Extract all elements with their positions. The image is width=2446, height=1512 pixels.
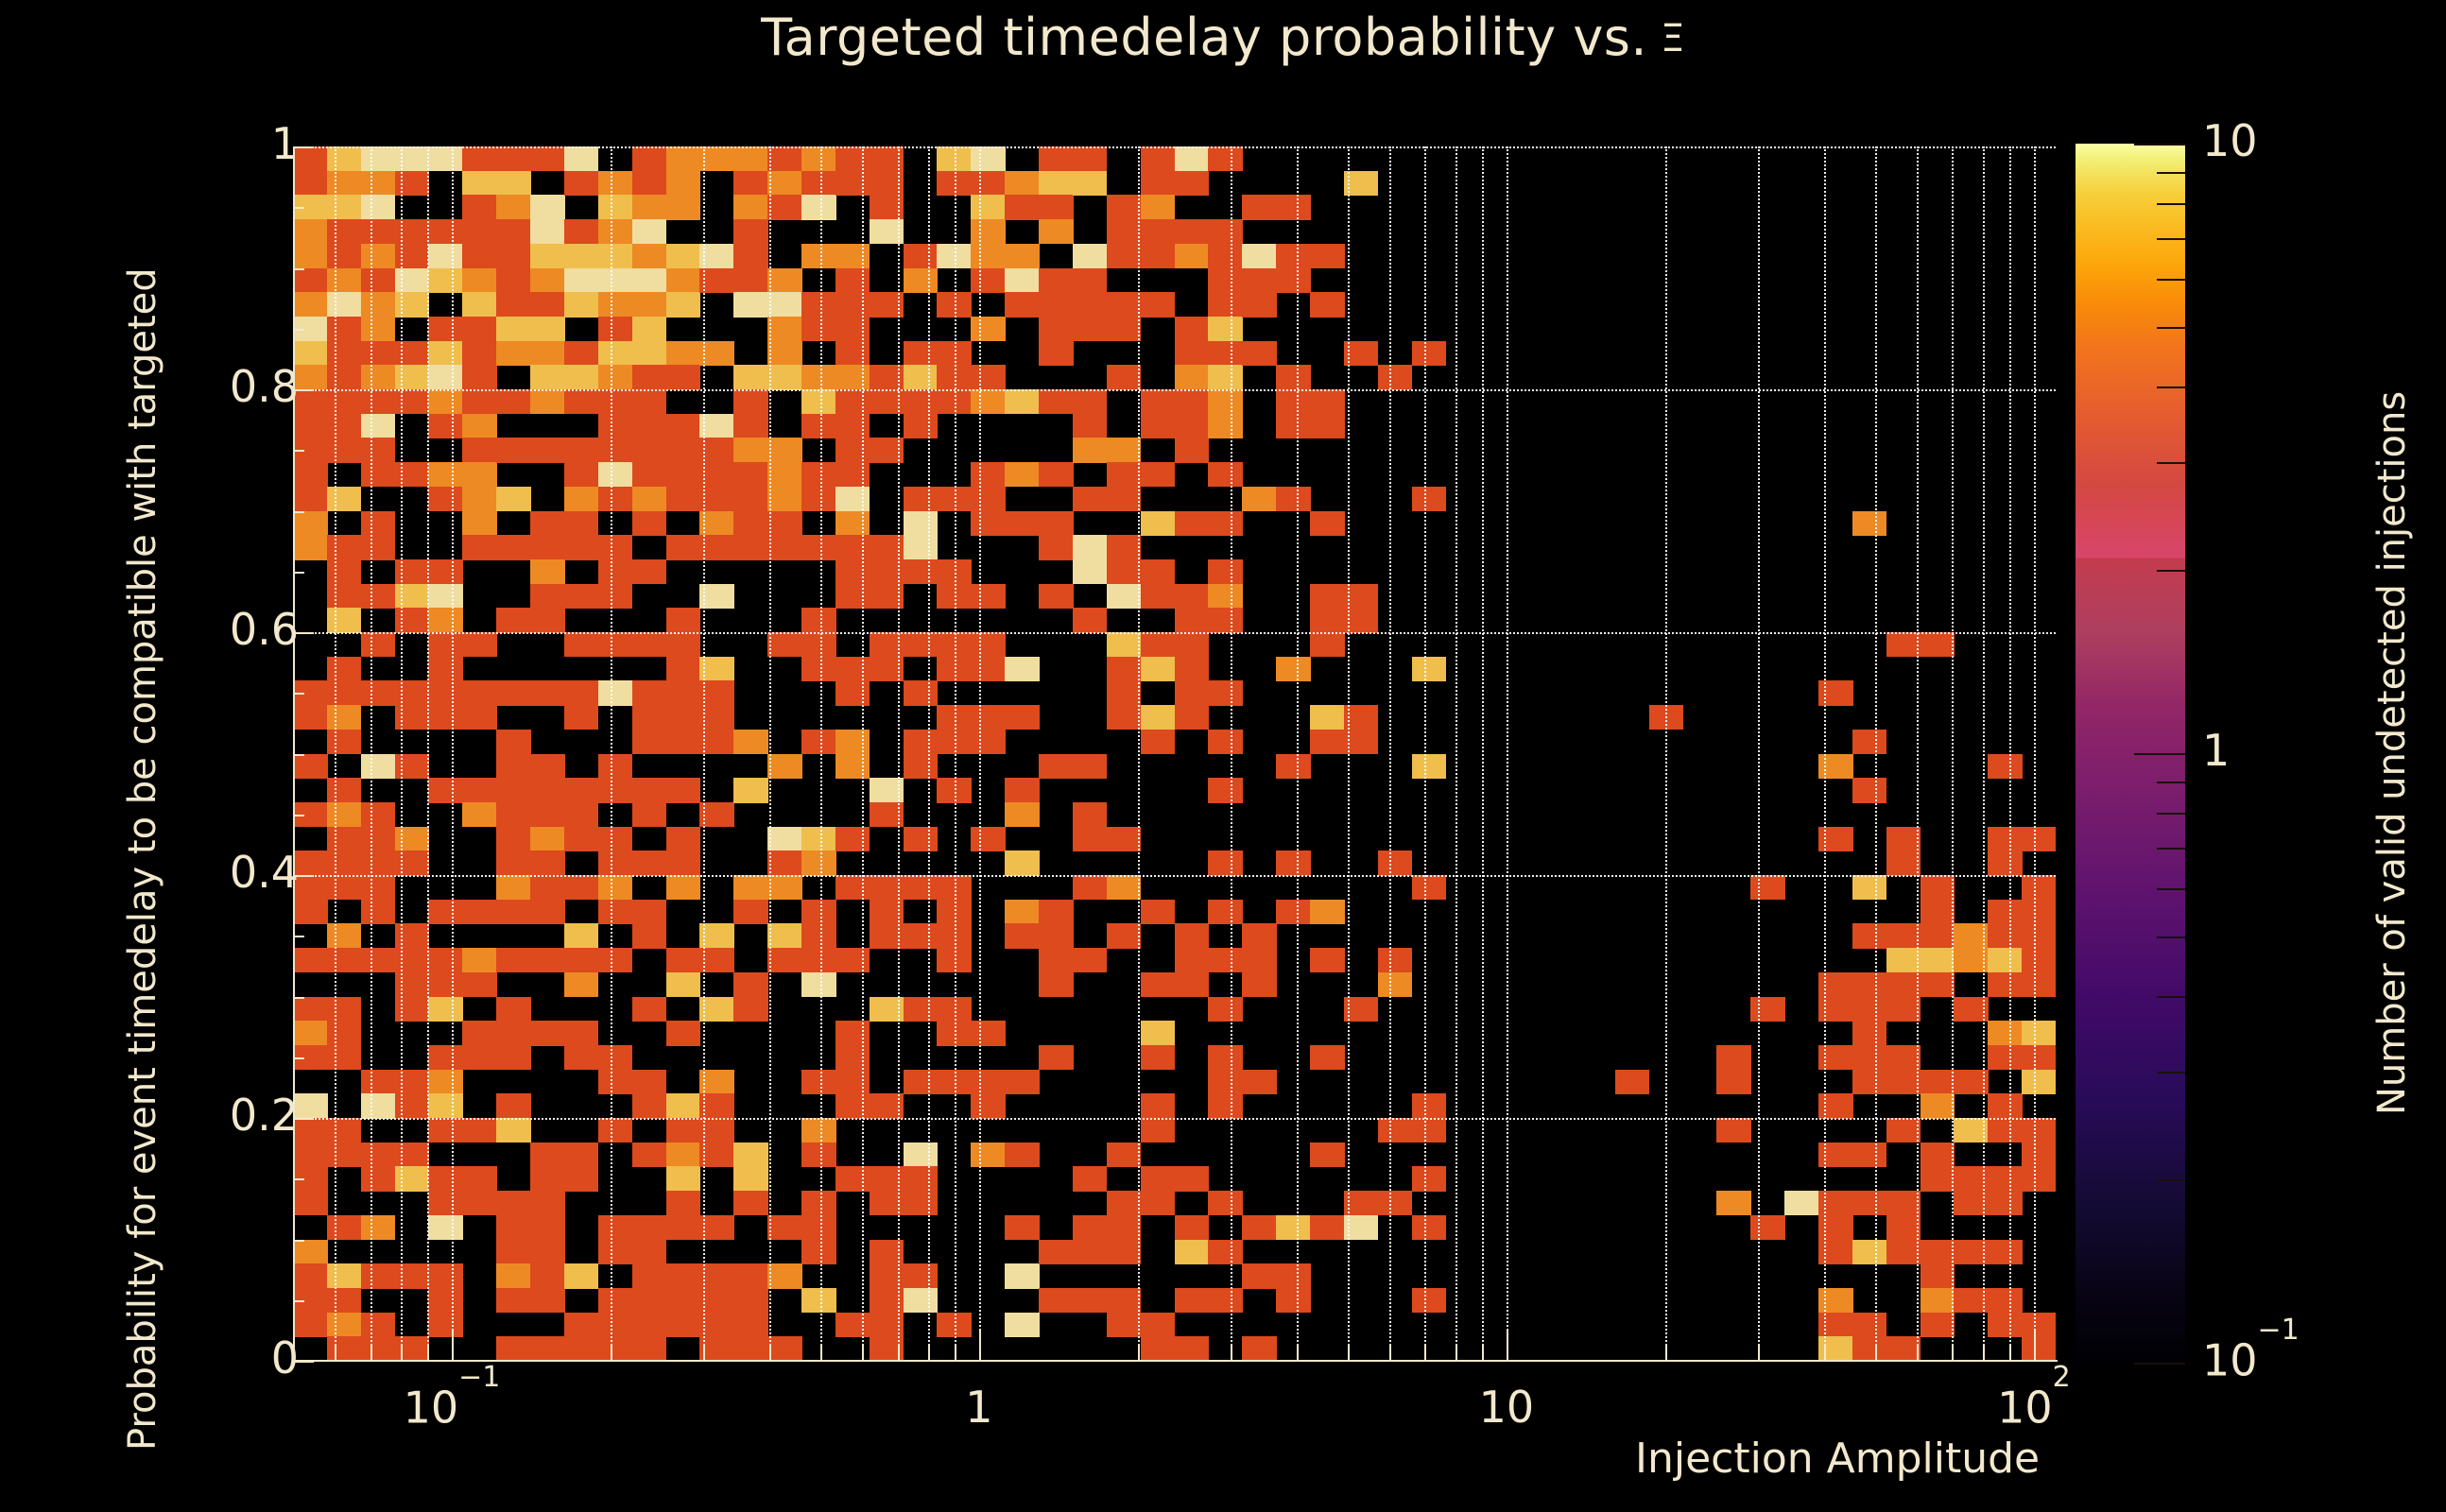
heatmap-cell (2022, 948, 2056, 972)
heatmap-cell (632, 365, 667, 389)
heatmap-cell (1276, 850, 1311, 875)
heatmap-cell (2022, 1336, 2056, 1361)
heatmap-cell (801, 1070, 836, 1094)
y-tick-label: 0.6 (230, 604, 299, 655)
heatmap-cell (904, 875, 939, 900)
heatmap-cell (666, 365, 701, 389)
heatmap-cell (1886, 1240, 1921, 1264)
heatmap-cell (733, 292, 768, 317)
heatmap-cell (598, 948, 633, 972)
heatmap-cell (1208, 680, 1243, 705)
heatmap-cell (1141, 1093, 1176, 1118)
heatmap-cell (1208, 850, 1243, 875)
gridline-vertical (335, 146, 336, 1361)
heatmap-cell (598, 1240, 633, 1264)
heatmap-cell (327, 171, 362, 196)
heatmap-cell (1141, 414, 1176, 438)
heatmap-cell (1005, 171, 1040, 196)
heatmap-cell (361, 317, 396, 341)
heatmap-cell (1208, 900, 1243, 924)
heatmap-cell (1073, 1215, 1108, 1240)
heatmap-cell (496, 1288, 531, 1313)
heatmap-cell (564, 1045, 599, 1070)
gridline-vertical (1824, 146, 1826, 1361)
heatmap-cell (1276, 487, 1311, 511)
heatmap-cell (666, 730, 701, 754)
heatmap-cell (1175, 632, 1210, 657)
heatmap-cell (428, 1118, 463, 1143)
gridline-vertical (1482, 146, 1484, 1361)
heatmap-cell (1107, 487, 1142, 511)
heatmap-cell (1039, 900, 1074, 924)
heatmap-cell (1852, 1070, 1887, 1094)
heatmap-cell (1310, 1215, 1345, 1240)
heatmap-cell (564, 535, 599, 559)
x-axis-minor-tick (1231, 1344, 1232, 1361)
heatmap-cell (666, 1191, 701, 1215)
heatmap-cell (361, 146, 396, 171)
heatmap-cell (1988, 1118, 2023, 1143)
heatmap-cell (530, 778, 565, 802)
heatmap-cell (1852, 1191, 1887, 1215)
heatmap-cell (1175, 584, 1210, 609)
heatmap-cell (1141, 389, 1176, 414)
heatmap-cell (666, 244, 701, 268)
heatmap-cell (1852, 1143, 1887, 1167)
heatmap-cell (327, 1288, 362, 1313)
heatmap-cell (1073, 827, 1108, 851)
heatmap-cell (1005, 900, 1040, 924)
heatmap-cell (564, 389, 599, 414)
heatmap-cell (327, 1263, 362, 1288)
y-axis-minor-tick (293, 754, 304, 756)
heatmap-cell (835, 146, 870, 171)
heatmap-cell (1005, 268, 1040, 293)
gridline-vertical (769, 146, 771, 1361)
heatmap-cell (1141, 244, 1176, 268)
heatmap-cell (1750, 875, 1785, 900)
heatmap-cell (530, 317, 565, 341)
heatmap-cell (462, 972, 497, 997)
heatmap-cell (666, 268, 701, 293)
heatmap-cell (1107, 535, 1142, 559)
heatmap-cell (564, 219, 599, 244)
heatmap-cell (1988, 1021, 2023, 1045)
x-axis-major-tick (1507, 1329, 1508, 1361)
heatmap-cell (327, 1021, 362, 1045)
heatmap-cell (293, 511, 328, 536)
y-axis-minor-tick (293, 572, 304, 574)
heatmap-cell (1175, 365, 1210, 389)
heatmap-cell (1073, 1288, 1108, 1313)
heatmap-cell (904, 1070, 939, 1094)
heatmap-cell (1988, 900, 2023, 924)
heatmap-cell (530, 1263, 565, 1288)
heatmap-cell (564, 827, 599, 851)
heatmap-cell (293, 948, 328, 972)
heatmap-cell (496, 875, 531, 900)
heatmap-cell (1310, 1045, 1345, 1070)
heatmap-cell (530, 1240, 565, 1264)
heatmap-cell (835, 511, 870, 536)
heatmap-cell (1039, 317, 1074, 341)
heatmap-cell (496, 389, 531, 414)
y-axis-minor-tick (293, 936, 304, 937)
heatmap-cell (1988, 850, 2023, 875)
heatmap-cell (462, 365, 497, 389)
gridline-vertical (955, 146, 956, 1361)
gridline-vertical (703, 146, 705, 1361)
heatmap-cell (1310, 414, 1345, 438)
heatmap-cell (666, 1021, 701, 1045)
heatmap-cell (835, 584, 870, 609)
heatmap-cell (904, 1191, 939, 1215)
y-axis-minor-tick (293, 450, 304, 452)
heatmap-cell (971, 657, 1006, 681)
heatmap-cell (530, 146, 565, 171)
heatmap-cell (1039, 1240, 1074, 1264)
heatmap-cell (733, 414, 768, 438)
heatmap-cell (361, 414, 396, 438)
heatmap-cell (835, 244, 870, 268)
heatmap-cell (1852, 1313, 1887, 1337)
heatmap-cell (327, 341, 362, 366)
heatmap-cell (361, 584, 396, 609)
heatmap-cell (564, 632, 599, 657)
heatmap-cell (361, 900, 396, 924)
x-axis-minor-tick (1297, 1344, 1299, 1361)
heatmap-cell (1615, 1070, 1650, 1094)
heatmap-cell (1175, 680, 1210, 705)
heatmap-cell (1107, 1191, 1142, 1215)
heatmap-cell (564, 462, 599, 487)
heatmap-cell (1921, 1263, 1955, 1288)
heatmap-cell (462, 171, 497, 196)
heatmap-cell (904, 414, 939, 438)
heatmap-cell (767, 171, 802, 196)
heatmap-cell (835, 1166, 870, 1191)
y-axis-minor-tick (293, 1240, 304, 1242)
heatmap-cell (293, 487, 328, 511)
heatmap-cell (1175, 244, 1210, 268)
heatmap-cell (598, 292, 633, 317)
gridline-vertical (2034, 146, 2036, 1361)
heatmap-cell (462, 268, 497, 293)
heatmap-cell (428, 487, 463, 511)
gridline-vertical (1507, 146, 1508, 1361)
heatmap-cell (1242, 244, 1277, 268)
heatmap-cell (632, 511, 667, 536)
heatmap-cell (1921, 1143, 1955, 1167)
heatmap-cell (632, 632, 667, 657)
heatmap-cell (293, 900, 328, 924)
heatmap-cell (733, 462, 768, 487)
heatmap-cell (1107, 292, 1142, 317)
heatmap-cell (1005, 511, 1040, 536)
heatmap-cell (1175, 948, 1210, 972)
x-axis-major-tick (2034, 1329, 2036, 1361)
heatmap-cell (327, 657, 362, 681)
heatmap-cell (327, 219, 362, 244)
heatmap-cell (428, 268, 463, 293)
heatmap-cell (428, 462, 463, 487)
heatmap-cell (1175, 608, 1210, 632)
heatmap-cell (530, 1288, 565, 1313)
heatmap-cell (1175, 1336, 1210, 1361)
heatmap-cell (1412, 754, 1447, 779)
heatmap-cell (496, 1240, 531, 1264)
heatmap-cell (835, 948, 870, 972)
heatmap-cell (1276, 900, 1311, 924)
heatmap-cell (1175, 219, 1210, 244)
heatmap-cell (666, 948, 701, 972)
heatmap-cell (1921, 1093, 1955, 1118)
x-axis-minor-tick (769, 1344, 771, 1361)
heatmap-cell (1208, 268, 1243, 293)
heatmap-cell (971, 1070, 1006, 1094)
y-axis-minor-tick (293, 207, 304, 209)
heatmap-cell (1141, 292, 1176, 317)
heatmap-cell (598, 778, 633, 802)
heatmap-cell (1175, 923, 1210, 948)
heatmap-cell (598, 754, 633, 779)
heatmap-cell (327, 292, 362, 317)
heatmap-cell (904, 244, 939, 268)
gridline-vertical (1231, 146, 1232, 1361)
heatmap-cell (1141, 1166, 1176, 1191)
heatmap-cell (1141, 730, 1176, 754)
heatmap-cell (632, 1288, 667, 1313)
heatmap-cell (462, 1118, 497, 1143)
heatmap-cell (632, 1143, 667, 1167)
heatmap-cell (327, 487, 362, 511)
heatmap-cell (835, 268, 870, 293)
heatmap-cell (801, 923, 836, 948)
heatmap-cell (835, 341, 870, 366)
gridline-vertical (452, 146, 454, 1361)
heatmap-cell (1039, 268, 1074, 293)
heatmap-cell (1412, 1118, 1447, 1143)
heatmap-cell (1852, 875, 1887, 900)
heatmap-cell (1310, 1143, 1345, 1167)
heatmap-cell (1039, 146, 1074, 171)
heatmap-cell (496, 608, 531, 632)
heatmap-cell (801, 146, 836, 171)
heatmap-cell (598, 535, 633, 559)
y-axis-minor-tick (293, 815, 304, 816)
heatmap-cell (904, 341, 939, 366)
heatmap-cell (1039, 195, 1074, 219)
heatmap-cell (496, 1191, 531, 1215)
heatmap-cell (1276, 657, 1311, 681)
heatmap-cell (1208, 292, 1243, 317)
y-axis-minor-tick (293, 1300, 304, 1302)
heatmap-cell (293, 244, 328, 268)
heatmap-cell (666, 1288, 701, 1313)
heatmap-cell (598, 632, 633, 657)
heatmap-cell (767, 292, 802, 317)
heatmap-cell (598, 1288, 633, 1313)
title-text: Targeted timedelay probability vs. (761, 8, 1647, 67)
heatmap-cell (462, 146, 497, 171)
heatmap-cell (666, 195, 701, 219)
heatmap-cell (428, 146, 463, 171)
y-tick-label: 0.2 (230, 1090, 299, 1141)
heatmap-cell (971, 487, 1006, 511)
heatmap-cell (1412, 657, 1447, 681)
heatmap-cell (564, 584, 599, 609)
x-axis-minor-tick (1665, 1344, 1667, 1361)
heatmap-cell (1208, 584, 1243, 609)
heatmap-cell (632, 244, 667, 268)
heatmap-cell (835, 462, 870, 487)
heatmap-cell (327, 317, 362, 341)
heatmap-cell (293, 1263, 328, 1288)
heatmap-cell (598, 438, 633, 462)
heatmap-cell (327, 146, 362, 171)
heatmap-cell (1039, 1288, 1074, 1313)
heatmap-cell (327, 1045, 362, 1070)
heatmap-cell (904, 730, 939, 754)
heatmap-cell (564, 923, 599, 948)
heatmap-cell (767, 948, 802, 972)
heatmap-cell (1412, 1166, 1447, 1191)
heatmap-cell (666, 778, 701, 802)
heatmap-cell (1141, 1313, 1176, 1337)
gridline-horizontal (293, 632, 2056, 634)
heatmap-cell (361, 754, 396, 779)
heatmap-cell (598, 827, 633, 851)
heatmap-cell (462, 1021, 497, 1045)
heatmap-cell (428, 657, 463, 681)
heatmap-cell (1988, 1191, 2023, 1215)
heatmap-cell (496, 850, 531, 875)
heatmap-cell (1886, 1118, 1921, 1143)
heatmap-cell (327, 195, 362, 219)
heatmap-cell (1310, 244, 1345, 268)
heatmap-cell (564, 1166, 599, 1191)
heatmap-cell (1005, 705, 1040, 730)
heatmap-cell (801, 608, 836, 632)
heatmap-cell (1242, 972, 1277, 997)
heatmap-cell (971, 268, 1006, 293)
heatmap-cell (1242, 948, 1277, 972)
heatmap-cell (1141, 511, 1176, 536)
heatmap-cell (801, 389, 836, 414)
heatmap-cell (361, 1093, 396, 1118)
x-axis-minor-tick (1952, 1344, 1954, 1361)
heatmap-cell (632, 997, 667, 1022)
heatmap-cell (361, 171, 396, 196)
heatmap-cell (904, 680, 939, 705)
heatmap-cell (1886, 1215, 1921, 1240)
heatmap-cell (1039, 923, 1074, 948)
heatmap-cell (1107, 584, 1142, 609)
heatmap-cell (1039, 171, 1074, 196)
heatmap-cell (361, 535, 396, 559)
heatmap-cell (564, 171, 599, 196)
heatmap-cell (564, 1021, 599, 1045)
heatmap-cell (1175, 1166, 1210, 1191)
heatmap-cell (1175, 317, 1210, 341)
gridline-vertical (1456, 146, 1457, 1361)
heatmap-cell (598, 219, 633, 244)
heatmap-cell (1107, 1240, 1142, 1264)
heatmap-cell (1310, 584, 1345, 609)
heatmap-cell (1310, 389, 1345, 414)
heatmap-cell (327, 850, 362, 875)
heatmap-cell (327, 244, 362, 268)
heatmap-cell (1141, 1045, 1176, 1070)
heatmap-cell (327, 1118, 362, 1143)
heatmap-cell (496, 1045, 531, 1070)
heatmap-cell (1921, 1240, 1955, 1264)
heatmap-cell (632, 317, 667, 341)
heatmap-cell (1921, 1070, 1955, 1094)
heatmap-cell (530, 559, 565, 584)
x-axis-minor-tick (2009, 1344, 2011, 1361)
x-axis-minor-tick (401, 1344, 403, 1361)
heatmap-cell (1412, 875, 1447, 900)
heatmap-cell (428, 948, 463, 972)
heatmap-cell (462, 1045, 497, 1070)
heatmap-cell (767, 462, 802, 487)
heatmap-cell (801, 1288, 836, 1313)
heatmap-cell (1750, 1215, 1785, 1240)
heatmap-cell (904, 923, 939, 948)
heatmap-cell (496, 146, 531, 171)
heatmap-cell (1208, 341, 1243, 366)
heatmap-cell (496, 754, 531, 779)
heatmap-cell (767, 1215, 802, 1240)
heatmap-cell (835, 535, 870, 559)
y-axis-minor-tick (293, 997, 304, 999)
heatmap-cell (1141, 657, 1176, 681)
heatmap-cell (835, 1045, 870, 1070)
heatmap-cell (767, 511, 802, 536)
heatmap-cell (1310, 900, 1345, 924)
heatmap-cell (428, 778, 463, 802)
heatmap-cell (428, 1263, 463, 1288)
heatmap-cell (327, 778, 362, 802)
heatmap-cell (327, 559, 362, 584)
heatmap-cell (462, 948, 497, 972)
heatmap-cell (564, 680, 599, 705)
heatmap-cell (1750, 997, 1785, 1022)
heatmap-cell (1208, 608, 1243, 632)
heatmap-cell (801, 292, 836, 317)
heatmap-cell (1242, 268, 1277, 293)
heatmap-cell (428, 317, 463, 341)
heatmap-cell (1141, 584, 1176, 609)
heatmap-cell (598, 1215, 633, 1240)
heatmap-cell (598, 584, 633, 609)
heatmap-cell (530, 850, 565, 875)
heatmap-cell (835, 657, 870, 681)
heatmap-cell (327, 535, 362, 559)
heatmap-cell (327, 1336, 362, 1361)
heatmap-plot-area[interactable] (293, 146, 2056, 1361)
heatmap-cell (801, 948, 836, 972)
heatmap-cell (971, 389, 1006, 414)
heatmap-cell (598, 1336, 633, 1361)
heatmap-cell (428, 414, 463, 438)
heatmap-cell (1073, 754, 1108, 779)
heatmap-cell (361, 292, 396, 317)
heatmap-cell (1073, 875, 1108, 900)
heatmap-cell (733, 389, 768, 414)
heatmap-cell (835, 827, 870, 851)
